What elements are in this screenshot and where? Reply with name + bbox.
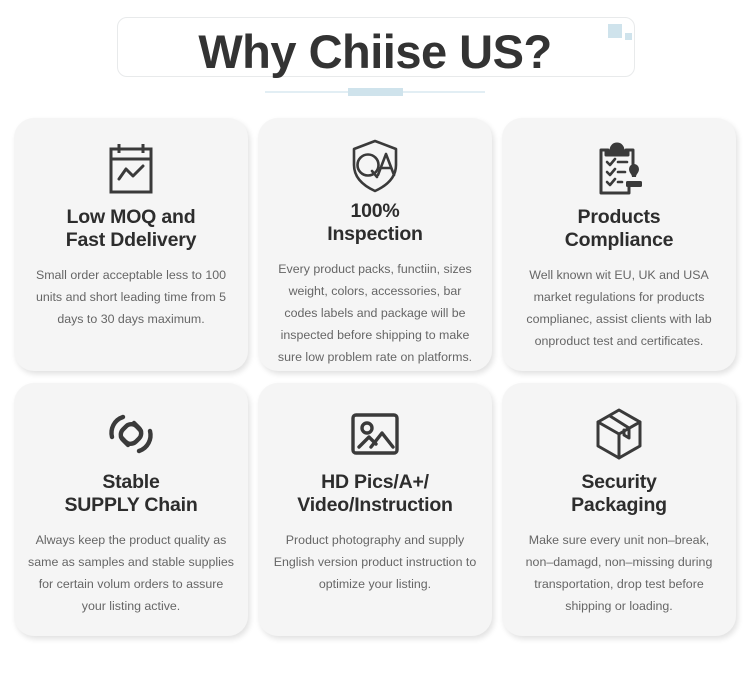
card-title-line: Products (578, 206, 661, 228)
page-title: Why Chiise US? (0, 25, 750, 79)
feature-card-hd-pics[interactable]: HD Pics/A+/ Video/Instruction Product ph… (258, 383, 492, 636)
feature-card-inspection[interactable]: 100% Inspection Every product packs, fun… (258, 118, 492, 371)
card-title-line: SUPPLY Chain (64, 494, 197, 516)
image-picture-icon (349, 403, 401, 465)
card-title-line: Packaging (571, 494, 667, 516)
feature-card-low-moq[interactable]: Low MOQ and Fast Ddelivery Small order a… (14, 118, 248, 371)
package-box-icon (593, 403, 645, 465)
feature-card-packaging[interactable]: Security Packaging Make sure every unit … (502, 383, 736, 636)
chain-link-icon (105, 403, 157, 465)
title-underline-accent (265, 88, 485, 96)
feature-card-supply-chain[interactable]: Stable SUPPLY Chain Always keep the prod… (14, 383, 248, 636)
card-description: Product photography and supply English v… (272, 529, 478, 595)
card-title-line: Compliance (565, 229, 674, 251)
card-title-line: 100% (350, 200, 399, 222)
why-choose-us-page: Why Chiise US? Low MOQ and Fast Ddeliver… (0, 0, 750, 673)
card-title-line: HD Pics/A+/ (321, 471, 429, 493)
card-title: HD Pics/A+/ Video/Instruction (297, 471, 453, 517)
card-description: Every product packs, functiin, sizes wei… (272, 258, 478, 368)
underline-thick-segment (348, 88, 403, 96)
qa-shield-icon (348, 138, 402, 194)
feature-card-compliance[interactable]: Products Compliance Well known wit EU, U… (502, 118, 736, 371)
card-title: Products Compliance (565, 206, 674, 252)
card-title-line: Stable (102, 471, 159, 493)
clipboard-stamp-icon (593, 138, 645, 200)
card-title-line: Fast Ddelivery (66, 229, 197, 251)
card-title: Low MOQ and Fast Ddelivery (66, 206, 197, 252)
card-description: Small order acceptable less to 100 units… (28, 264, 234, 330)
card-description: Always keep the product quality as same … (28, 529, 234, 617)
card-title: 100% Inspection (327, 200, 423, 246)
card-title-line: Video/Instruction (297, 494, 453, 516)
page-header: Why Chiise US? (0, 0, 750, 110)
card-title-line: Security (581, 471, 656, 493)
card-title: Stable SUPPLY Chain (64, 471, 197, 517)
card-title: Security Packaging (571, 471, 667, 517)
calendar-chart-icon (105, 138, 157, 200)
card-title-line: Low MOQ and (67, 206, 196, 228)
card-title-line: Inspection (327, 223, 423, 245)
card-description: Make sure every unit non–break, non–dama… (516, 529, 722, 617)
card-description: Well known wit EU, UK and USA market reg… (516, 264, 722, 352)
feature-card-grid: Low MOQ and Fast Ddelivery Small order a… (14, 118, 736, 636)
